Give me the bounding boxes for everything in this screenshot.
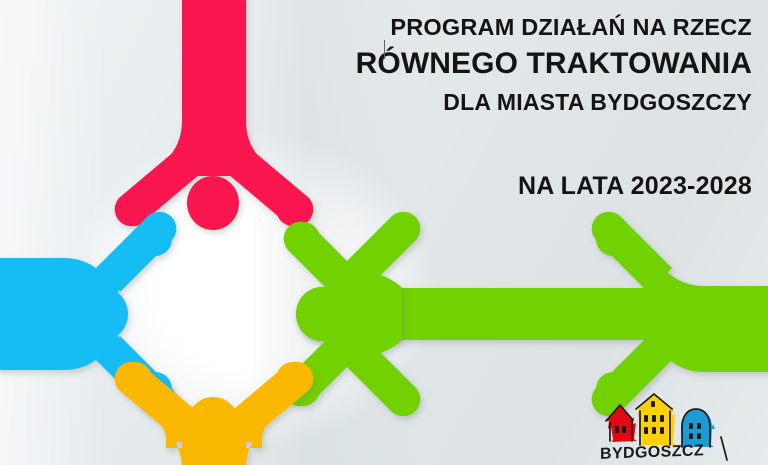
logo-house-red-icon bbox=[606, 405, 637, 442]
figure-top-pink bbox=[115, 0, 314, 230]
poster-canvas: PROGRAM DZIAŁAŃ NA RZECZ RÓWNEGO TRAKTOW… bbox=[0, 0, 768, 465]
headline-line-1: PROGRAM DZIAŁAŃ NA RZECZ bbox=[300, 4, 752, 44]
logo-house-blue-icon bbox=[681, 409, 715, 447]
logo-slash-icon bbox=[721, 437, 727, 460]
figure-bottom-orange bbox=[115, 362, 314, 465]
headline-block: PROGRAM DZIAŁAŃ NA RZECZ RÓWNEGO TRAKTOW… bbox=[300, 4, 752, 120]
logo-house-yellow-icon bbox=[636, 394, 676, 445]
headline-line-2: RÓWNEGO TRAKTOWANIA bbox=[300, 44, 752, 84]
headline-tick-mark bbox=[384, 40, 385, 59]
logo-wordmark: BYDGOSZCZ bbox=[600, 442, 704, 461]
headline-line-3: DLA MIASTA BYDGOSZCZY bbox=[300, 84, 752, 120]
bydgoszcz-logo: BYDGOSZCZ bbox=[596, 393, 744, 461]
subline-years: NA LATA 2023-2028 bbox=[518, 172, 752, 201]
